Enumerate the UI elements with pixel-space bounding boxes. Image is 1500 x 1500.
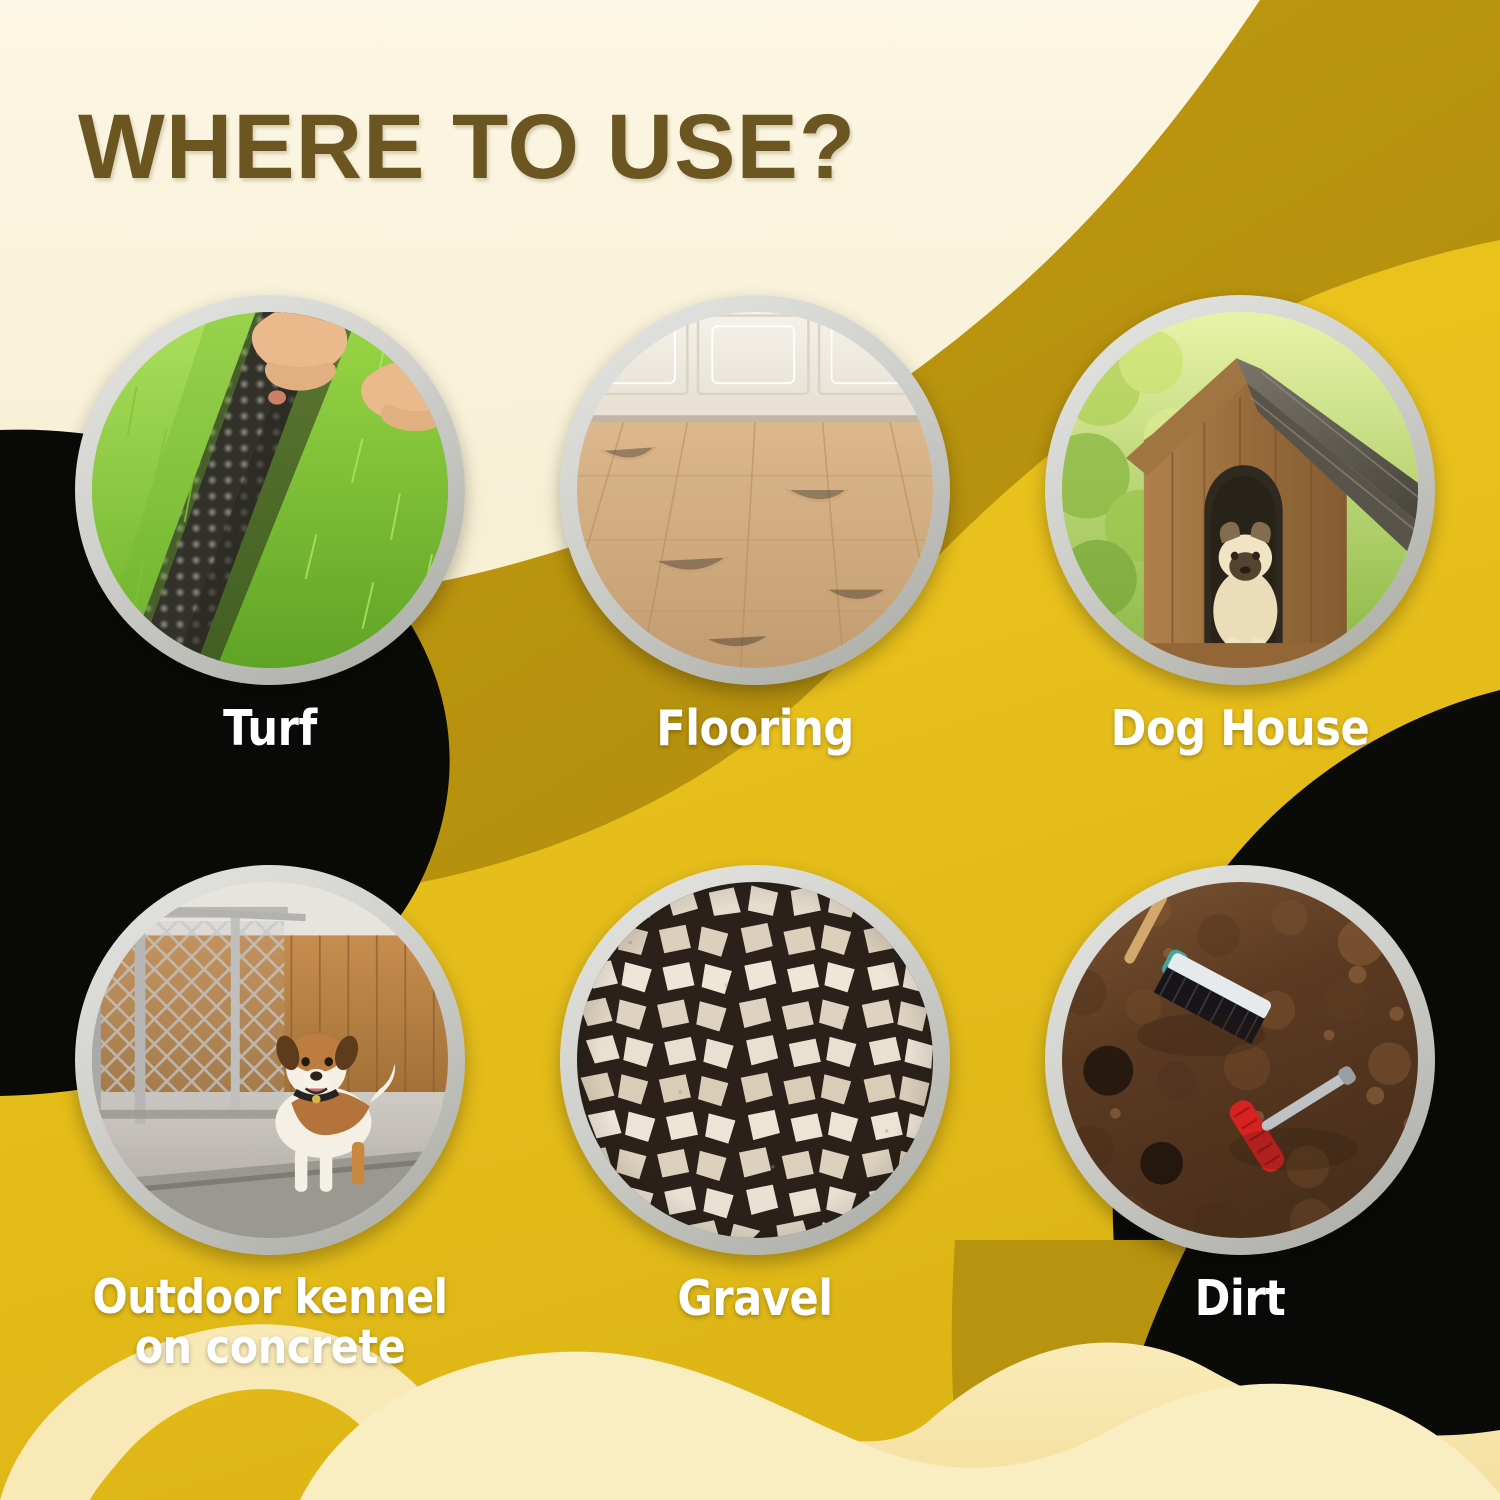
caption-line: Dirt: [1055, 1273, 1425, 1325]
caption-line: Gravel: [570, 1273, 940, 1325]
gravel-photo: [577, 882, 933, 1238]
use-case-card-gravel[interactable]: Gravel: [545, 865, 965, 1325]
dog-house-photo: [1062, 312, 1418, 668]
photo-ring: [560, 865, 950, 1255]
use-case-card-dirt[interactable]: Dirt: [1030, 865, 1450, 1325]
card-caption: Turf: [85, 703, 455, 755]
flooring-photo: [577, 312, 933, 668]
photo-ring: [1045, 865, 1435, 1255]
caption-line: Dog House: [1055, 703, 1425, 755]
dirt-photo: [1062, 882, 1418, 1238]
photo-ring: [75, 295, 465, 685]
use-case-card-turf[interactable]: Turf: [60, 295, 480, 755]
kennel-photo: [92, 882, 448, 1238]
photo-ring: [560, 295, 950, 685]
caption-line: Outdoor kennel: [85, 1273, 455, 1323]
turf-photo: [92, 312, 448, 668]
card-caption: Flooring: [570, 703, 940, 755]
photo-ring: [75, 865, 465, 1255]
card-caption: Outdoor kennel on concrete: [85, 1273, 455, 1373]
infographic-canvas: WHERE TO USE?: [0, 0, 1500, 1500]
card-caption: Dirt: [1055, 1273, 1425, 1325]
caption-line: Turf: [85, 703, 455, 755]
card-caption: Dog House: [1055, 703, 1425, 755]
card-caption: Gravel: [570, 1273, 940, 1325]
photo-ring: [1045, 295, 1435, 685]
use-case-grid: Turf: [0, 0, 1500, 1500]
caption-line: on concrete: [85, 1323, 455, 1373]
use-case-card-outdoor-kennel[interactable]: Outdoor kennel on concrete: [60, 865, 480, 1373]
use-case-card-flooring[interactable]: Flooring: [545, 295, 965, 755]
caption-line: Flooring: [570, 703, 940, 755]
use-case-card-dog-house[interactable]: Dog House: [1030, 295, 1450, 755]
